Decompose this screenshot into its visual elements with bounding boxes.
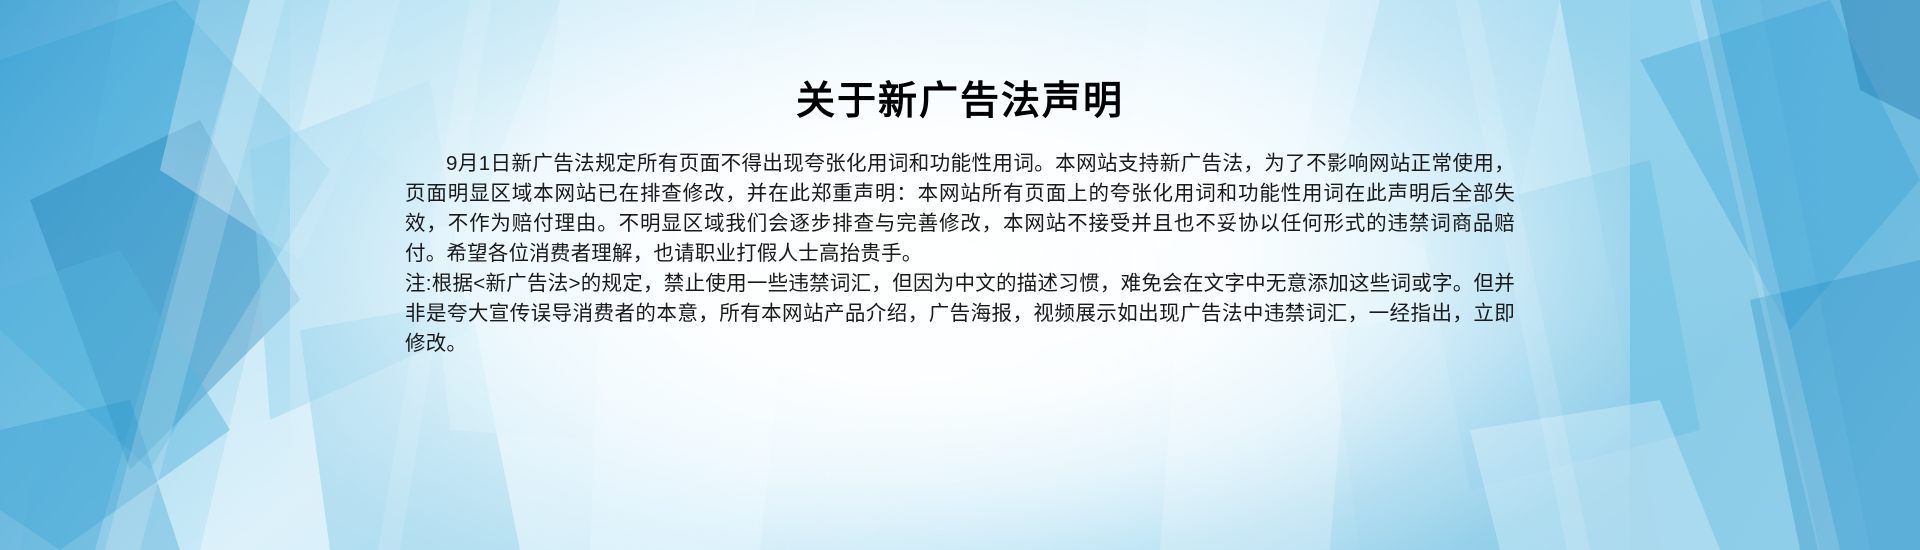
statement-paragraph-2: 注:根据<新广告法>的规定，禁止使用一些违禁词汇，但因为中文的描述习惯，难免会在… [405,269,1515,359]
page-title: 关于新广告法声明 [405,78,1515,127]
announcement-banner: 关于新广告法声明 9月1日新广告法规定所有页面不得出现夸张化用词和功能性用词。本… [0,0,1920,550]
statement-paragraph-1: 9月1日新广告法规定所有页面不得出现夸张化用词和功能性用词。本网站支持新广告法，… [405,149,1515,269]
statement-content: 关于新广告法声明 9月1日新广告法规定所有页面不得出现夸张化用词和功能性用词。本… [405,0,1515,550]
